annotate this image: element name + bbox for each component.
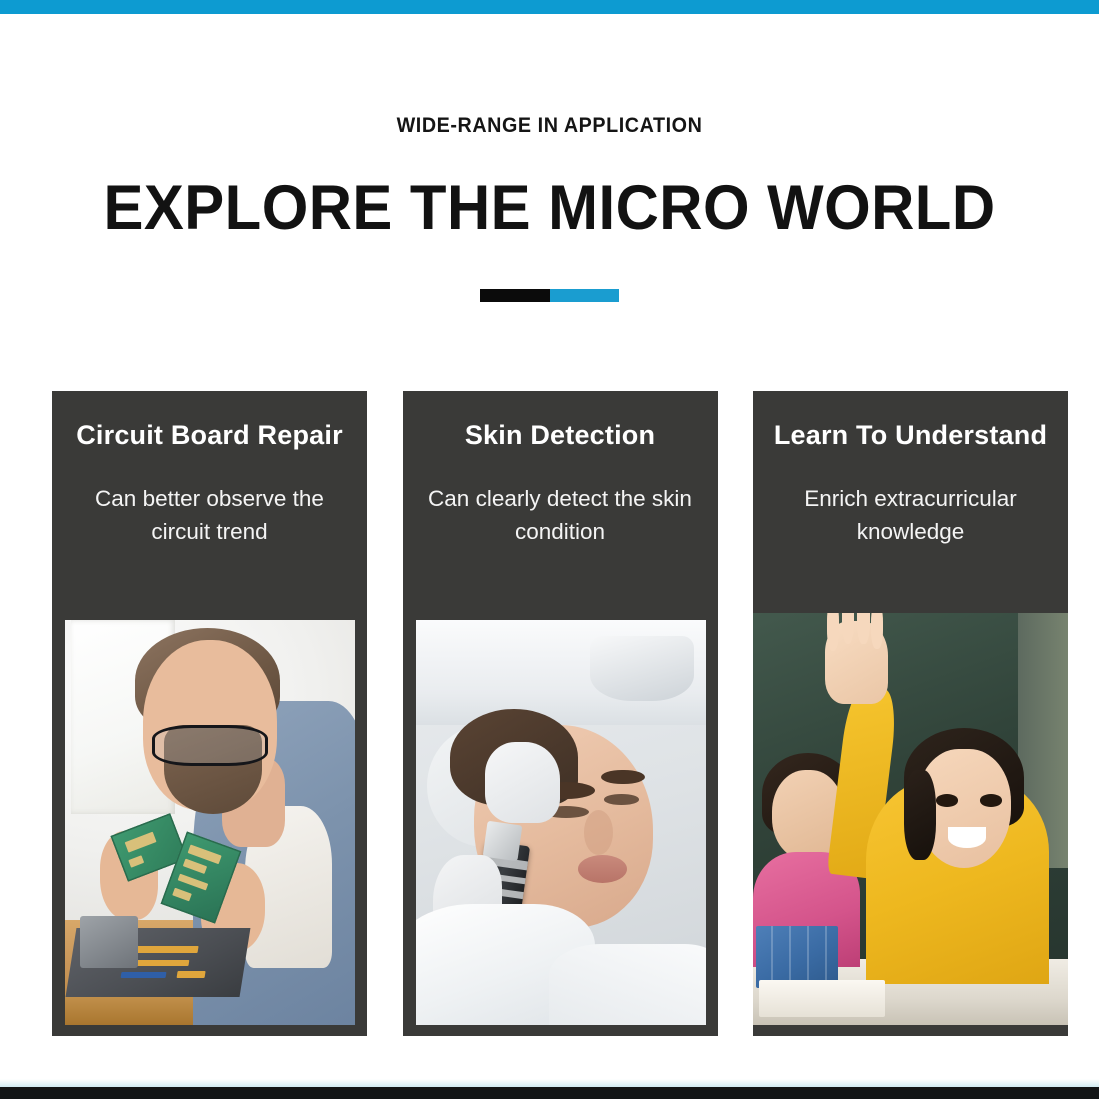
card-subtitle: Can better observe the circuit trend xyxy=(71,483,349,549)
card-title: Learn To Understand xyxy=(774,420,1047,451)
top-accent-bar xyxy=(0,0,1099,14)
card-subtitle: Can clearly detect the skin condition xyxy=(421,483,699,549)
feature-card-learn-to-understand[interactable]: Learn To Understand Enrich extracurricul… xyxy=(753,391,1068,1036)
card-image-skin-detection xyxy=(416,620,706,1025)
card-title: Skin Detection xyxy=(465,420,655,451)
bottom-glow xyxy=(0,1079,1099,1087)
feature-card-list: Circuit Board Repair Can better observe … xyxy=(52,391,1068,1036)
feature-card-circuit-board-repair[interactable]: Circuit Board Repair Can better observe … xyxy=(52,391,367,1036)
card-image-circuit-board-repair xyxy=(65,620,355,1025)
card-title: Circuit Board Repair xyxy=(76,420,343,451)
divider-segment-dark xyxy=(480,289,550,302)
card-subtitle: Enrich extracurricular knowledge xyxy=(772,483,1050,549)
eyebrow-text: WIDE-RANGE IN APPLICATION xyxy=(33,114,1066,138)
divider xyxy=(0,289,1099,302)
feature-card-skin-detection[interactable]: Skin Detection Can clearly detect the sk… xyxy=(403,391,718,1036)
divider-segment-blue xyxy=(550,289,619,302)
promo-banner: WIDE-RANGE IN APPLICATION EXPLORE THE MI… xyxy=(0,0,1099,1099)
header-section: WIDE-RANGE IN APPLICATION EXPLORE THE MI… xyxy=(0,14,1099,244)
page-title: EXPLORE THE MICRO WORLD xyxy=(27,172,1071,244)
card-image-learn-to-understand xyxy=(753,613,1068,1025)
bottom-accent-bar xyxy=(0,1087,1099,1099)
